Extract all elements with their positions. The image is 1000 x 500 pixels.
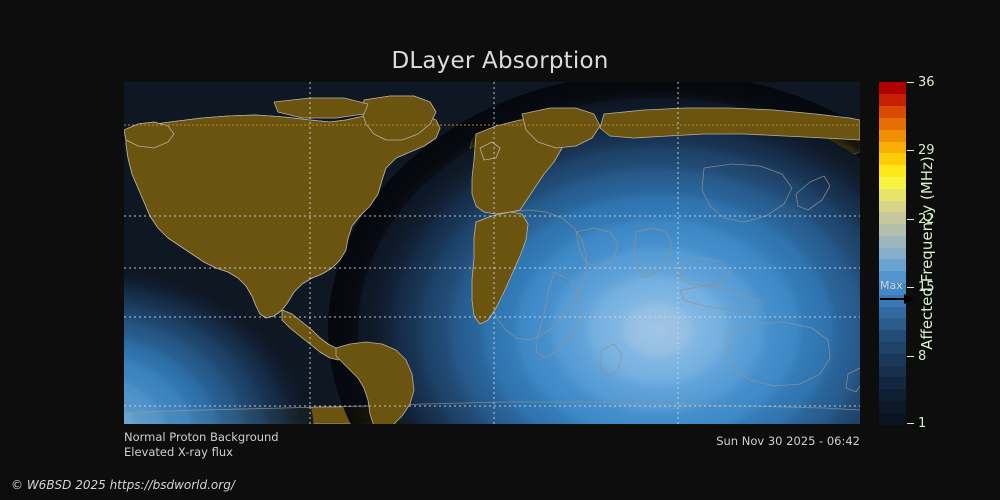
colorbar-band [879, 200, 906, 212]
colorbar-band [879, 377, 906, 389]
colorbar-band [879, 165, 906, 177]
colorbar-band [879, 259, 906, 271]
colorbar-band [879, 282, 906, 294]
colorbar-tick [907, 423, 914, 424]
map-gridlines [124, 82, 860, 424]
colorbar-band [879, 94, 906, 106]
colorbar-band [879, 412, 906, 424]
dlayer-absorption-figure: DLayer Absorption [0, 0, 1000, 500]
colorbar-band [879, 341, 906, 353]
colorbar-band [879, 365, 906, 377]
colorbar-tick [907, 82, 914, 83]
colorbar-band [879, 318, 906, 330]
xray-flux-note: Elevated X-ray flux [124, 445, 279, 460]
colorbar-axis-label: Affected Frequency (MHz) [916, 82, 938, 424]
colorbar-band [879, 224, 906, 236]
colorbar-band [879, 353, 906, 365]
colorbar-gradient [879, 82, 906, 424]
colorbar-band [879, 106, 906, 118]
colorbar-band [879, 82, 906, 94]
world-map-panel[interactable] [124, 82, 860, 424]
colorbar-tick [907, 150, 914, 151]
status-notes: Normal Proton Background Elevated X-ray … [124, 430, 279, 460]
colorbar-band [879, 141, 906, 153]
colorbar-axis-label-text: Affected Frequency (MHz) [918, 156, 936, 350]
colorbar-band [879, 306, 906, 318]
colorbar-band [879, 330, 906, 342]
colorbar-band [879, 176, 906, 188]
timestamp: Sun Nov 30 2025 - 06:42 [520, 434, 860, 449]
colorbar-band [879, 235, 906, 247]
colorbar-tick [907, 219, 914, 220]
colorbar-band [879, 153, 906, 165]
colorbar-band [879, 271, 906, 283]
colorbar-band [879, 129, 906, 141]
colorbar-band [879, 247, 906, 259]
colorbar[interactable]: 3629221581 [879, 82, 906, 424]
copyright-footer: © W6BSD 2025 https://bsdworld.org/ [11, 478, 235, 492]
colorbar-band [879, 117, 906, 129]
colorbar-band [879, 212, 906, 224]
proton-background-note: Normal Proton Background [124, 430, 279, 445]
colorbar-band [879, 400, 906, 412]
page-title: DLayer Absorption [0, 48, 1000, 74]
colorbar-band [879, 294, 906, 306]
colorbar-band [879, 389, 906, 401]
colorbar-tick [907, 287, 914, 288]
colorbar-band [879, 188, 906, 200]
colorbar-tick [907, 356, 914, 357]
